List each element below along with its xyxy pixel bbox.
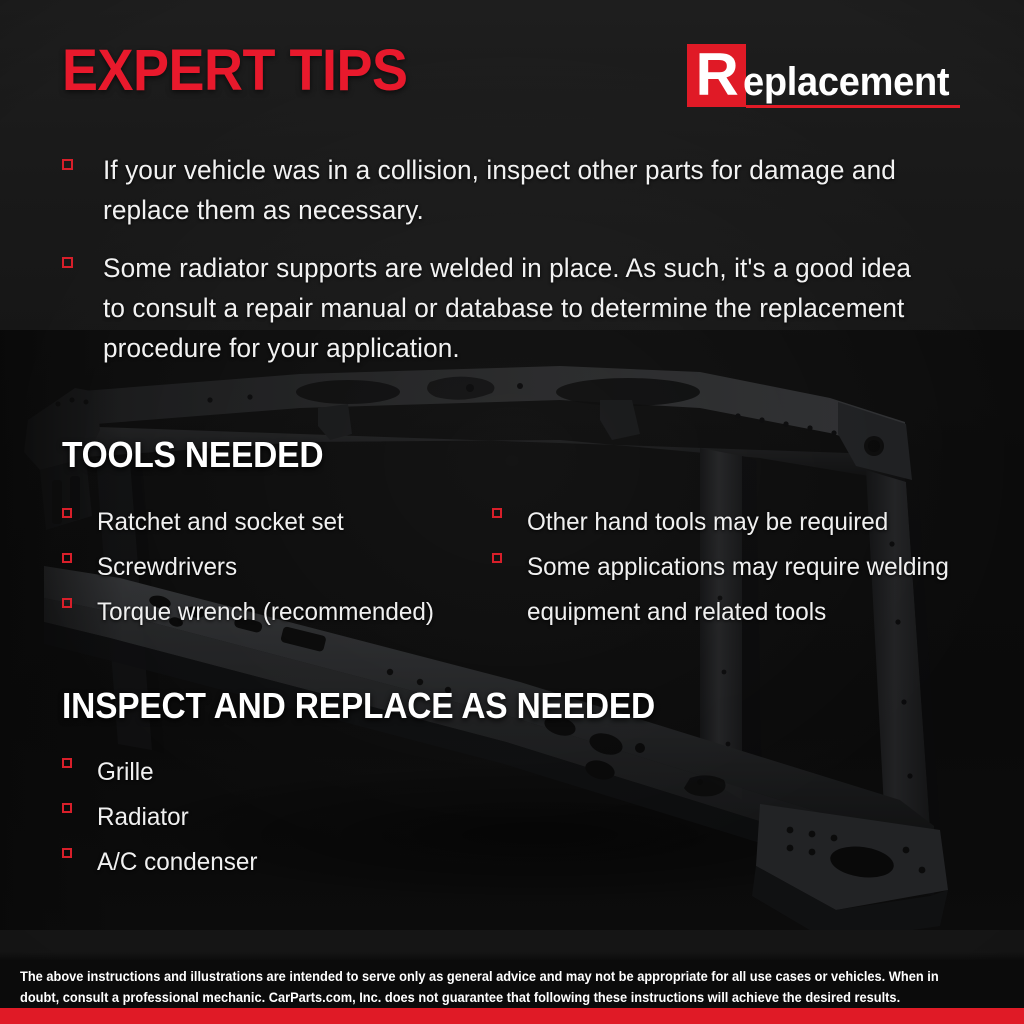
intro-bullet-text: If your vehicle was in a collision, insp… <box>103 150 936 230</box>
tools-list-right-column: Other hand tools may be required Some ap… <box>492 500 962 635</box>
content: If your vehicle was in a collision, insp… <box>0 0 1024 1024</box>
intro-bullet-list: If your vehicle was in a collision, insp… <box>62 150 962 368</box>
bullet-square-icon <box>62 758 72 768</box>
bullet-square-icon <box>492 553 502 563</box>
bullet-square-icon <box>62 553 72 563</box>
list-item: If your vehicle was in a collision, insp… <box>62 150 962 230</box>
bullet-square-icon <box>62 598 72 608</box>
tool-item-text: Ratchet and socket set <box>97 500 344 545</box>
tool-item-text: Screwdrivers <box>97 545 237 590</box>
bullet-square-icon <box>62 803 72 813</box>
tools-list: Ratchet and socket set Screwdrivers Torq… <box>62 500 972 635</box>
tool-item-text: Other hand tools may be required <box>527 500 888 545</box>
inspect-item-text: Radiator <box>97 795 189 840</box>
list-item: Torque wrench (recommended) <box>62 590 492 635</box>
list-item: Radiator <box>62 795 662 840</box>
bullet-square-icon <box>62 257 73 268</box>
tools-list-left-column: Ratchet and socket set Screwdrivers Torq… <box>62 500 492 635</box>
inspect-item-text: Grille <box>97 750 154 795</box>
footer-disclaimer-text: The above instructions and illustrations… <box>20 966 955 1008</box>
list-item: Some applications may require welding eq… <box>492 545 962 635</box>
list-item: Some radiator supports are welded in pla… <box>62 248 962 368</box>
list-item: Grille <box>62 750 662 795</box>
footer-red-bar <box>0 1008 1024 1024</box>
tool-item-text: Some applications may require welding eq… <box>527 545 949 635</box>
tools-section-heading: TOOLS NEEDED <box>62 437 323 473</box>
inspect-list: Grille Radiator A/C condenser <box>62 750 662 885</box>
list-item: Other hand tools may be required <box>492 500 962 545</box>
list-item: A/C condenser <box>62 840 662 885</box>
tool-item-text: Torque wrench (recommended) <box>97 590 434 635</box>
footer-disclaimer: The above instructions and illustrations… <box>0 952 1024 1008</box>
bullet-square-icon <box>62 848 72 858</box>
bullet-square-icon <box>62 508 72 518</box>
bullet-square-icon <box>492 508 502 518</box>
expert-tips-card: EXPERT TIPS R eplacement If your vehicle… <box>0 0 1024 1024</box>
intro-bullet-text: Some radiator supports are welded in pla… <box>103 248 936 368</box>
inspect-section-heading: INSPECT AND REPLACE AS NEEDED <box>62 688 655 724</box>
list-item: Screwdrivers <box>62 545 492 590</box>
list-item: Ratchet and socket set <box>62 500 492 545</box>
bullet-square-icon <box>62 159 73 170</box>
inspect-item-text: A/C condenser <box>97 840 257 885</box>
